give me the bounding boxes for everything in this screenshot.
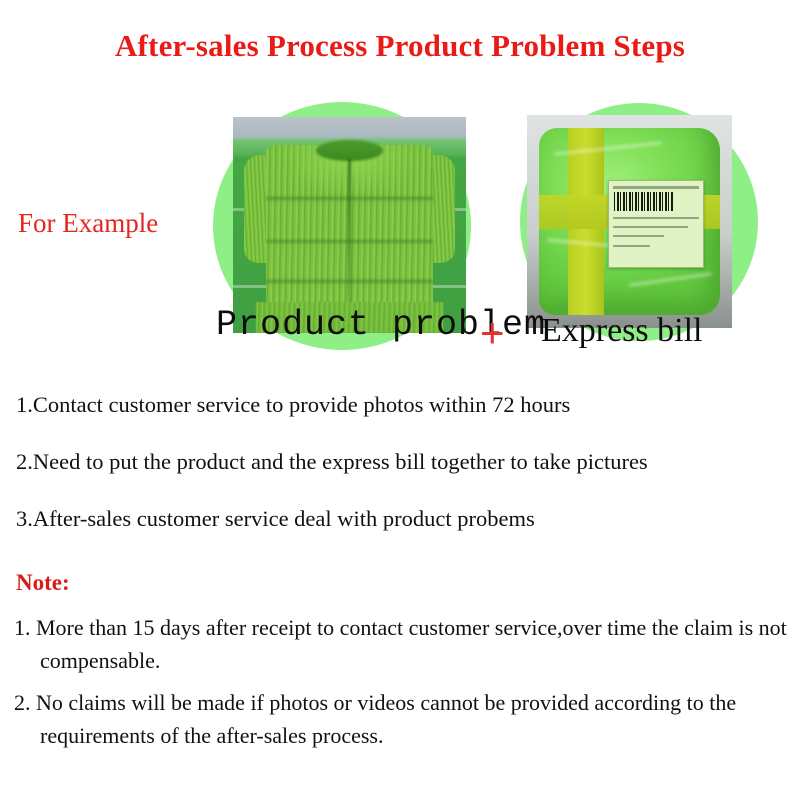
- plus-icon: +: [480, 312, 505, 354]
- note-item-2: 2. No claims will be made if photos or v…: [14, 687, 790, 752]
- step-item-1: 1.Contact customer service to provide ph…: [16, 392, 786, 417]
- step-item-2: 2.Need to put the product and the expres…: [16, 449, 786, 474]
- jacket-collar: [316, 140, 383, 161]
- note-list: 1. More than 15 days after receipt to co…: [14, 612, 790, 762]
- label-text-line: [613, 235, 665, 237]
- product-problem-photo: [233, 117, 466, 333]
- barcode: [614, 192, 672, 211]
- note-item-1-line-1: 1. More than 15 days after receipt to co…: [14, 615, 679, 640]
- example-section: For Example: [0, 100, 800, 350]
- jacket-body: [266, 145, 434, 318]
- express-bill-photo: [527, 115, 732, 328]
- express-bill-caption: Express bill: [541, 312, 702, 350]
- step-item-3: 3.After-sales customer service deal with…: [16, 506, 786, 531]
- label-text-line: [613, 245, 651, 247]
- for-example-label: For Example: [18, 208, 158, 239]
- shipping-label: [608, 180, 704, 268]
- after-sales-process-infographic: After-sales Process Product Problem Step…: [0, 0, 800, 800]
- label-text-line: [613, 226, 688, 228]
- note-item-1: 1. More than 15 days after receipt to co…: [14, 612, 790, 677]
- note-heading: Note:: [16, 570, 70, 596]
- label-text-line: [613, 217, 699, 219]
- note-item-2-line-1: 2. No claims will be made if photos or v…: [14, 690, 681, 715]
- page-title: After-sales Process Product Problem Step…: [0, 28, 800, 64]
- fur-jacket: [266, 145, 434, 318]
- jacket-center-opening: [348, 159, 351, 308]
- wrapped-parcel: [539, 128, 719, 315]
- label-text-line: [613, 186, 699, 189]
- steps-list: 1.Contact customer service to provide ph…: [16, 392, 786, 564]
- parcel-crease: [630, 272, 713, 287]
